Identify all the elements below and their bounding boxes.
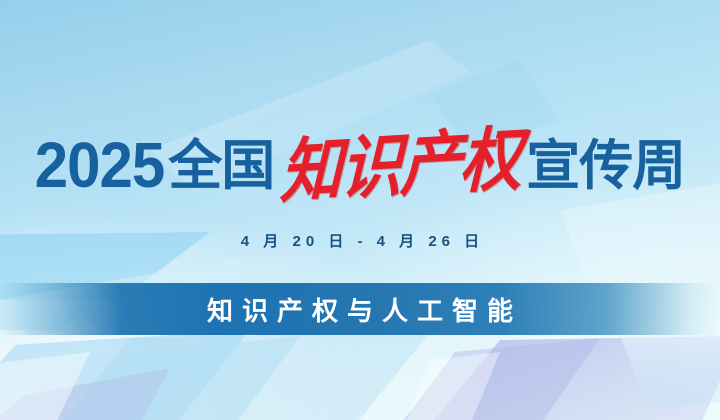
headline-prefix: 全国 bbox=[168, 139, 274, 193]
headline-suffix: 宣传周 bbox=[526, 139, 685, 193]
headline-brush-calligraphy: 知识产权 bbox=[280, 124, 521, 207]
headline-year: 2025 bbox=[35, 134, 164, 198]
dateline: 4 月 20 日 - 4 月 26 日 bbox=[0, 230, 720, 251]
headline: 2025 全国 知识产权 宣传周 bbox=[0, 128, 720, 204]
promotional-poster: 2025 全国 知识产权 宣传周 4 月 20 日 - 4 月 26 日 知识产… bbox=[0, 0, 720, 420]
poster-content: 2025 全国 知识产权 宣传周 4 月 20 日 - 4 月 26 日 知识产… bbox=[0, 0, 720, 420]
theme-ribbon-text: 知识产权与人工智能 bbox=[198, 291, 522, 328]
theme-ribbon: 知识产权与人工智能 bbox=[0, 283, 720, 335]
